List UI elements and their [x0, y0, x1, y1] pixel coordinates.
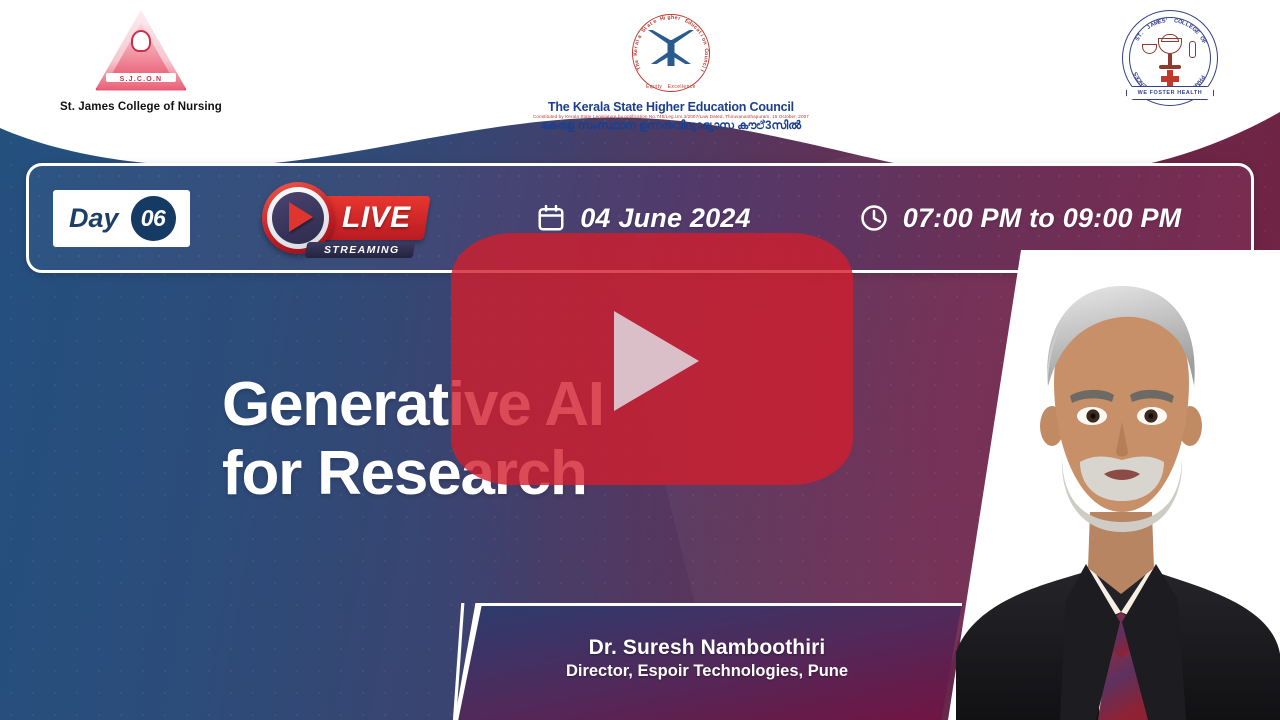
day-label: Day	[69, 203, 119, 234]
kshec-subtitle: Constituted by Kerala State Legislature …	[533, 114, 809, 119]
kshec-crest-icon: The Kerala State Higher Education Counci…	[628, 10, 714, 96]
speaker-role: Director, Espoir Technologies, Pune	[452, 662, 962, 681]
calendar-icon	[536, 203, 566, 233]
live-word-text: LIVE	[342, 201, 411, 235]
pharma-ribbon: WE FOSTER HEALTH	[1126, 86, 1214, 100]
logo-pharma: ST. JAMES' COLLEGE OF PHARMACEUTICAL SCI…	[1120, 8, 1220, 108]
day-badge: Day 06	[53, 190, 190, 247]
pharmaceutical-seal-icon: ST. JAMES' COLLEGE OF PHARMACEUTICAL SCI…	[1120, 8, 1220, 108]
event-time-group: 07:00 PM to 09:00 PM	[859, 203, 1182, 234]
kshec-malayalam: കേരള സംസ്ഥാന ഉന്നതവിദ്യാഭ്യാസ കൗඒ3സിൽ	[541, 120, 801, 133]
kshec-title: The Kerala State Higher Education Counci…	[548, 100, 794, 114]
logo-sjcon: S.J.C.O.N St. James College of Nursing	[60, 8, 222, 113]
speaker-name: Dr. Suresh Namboothiri	[452, 636, 962, 660]
sjcon-abbr: S.J.C.O.N	[93, 76, 189, 83]
streaming-word-text: STREAMING	[324, 244, 400, 256]
title-line-2: for Research	[222, 439, 604, 508]
webinar-thumbnail: S.J.C.O.N St. James College of Nursing T…	[0, 0, 1280, 720]
speaker-portrait	[948, 250, 1280, 720]
event-date-group: 04 June 2024	[536, 203, 751, 234]
speaker-nameplate: Dr. Suresh Namboothiri Director, Espoir …	[452, 603, 962, 720]
partner-logos: S.J.C.O.N St. James College of Nursing T…	[0, 0, 1280, 150]
kshec-excellence: Excellence	[668, 84, 696, 90]
clock-icon	[859, 203, 889, 233]
sjcon-crest-icon: S.J.C.O.N	[93, 8, 189, 94]
event-time: 07:00 PM to 09:00 PM	[903, 203, 1182, 234]
logo-sjcon-label: St. James College of Nursing	[60, 101, 222, 113]
streaming-word: STREAMING	[304, 242, 414, 258]
kshec-equity: Equity	[646, 84, 662, 90]
title-line-1: Generative AI	[222, 370, 604, 439]
logo-kshec: The Kerala State Higher Education Counci…	[533, 10, 809, 133]
day-number: 06	[131, 196, 176, 241]
event-date: 04 June 2024	[580, 203, 751, 234]
speaker-portrait-illustration	[948, 250, 1280, 720]
page-title: Generative AI for Research	[222, 370, 604, 509]
live-streaming-badge: LIVE STREAMING	[262, 182, 427, 254]
